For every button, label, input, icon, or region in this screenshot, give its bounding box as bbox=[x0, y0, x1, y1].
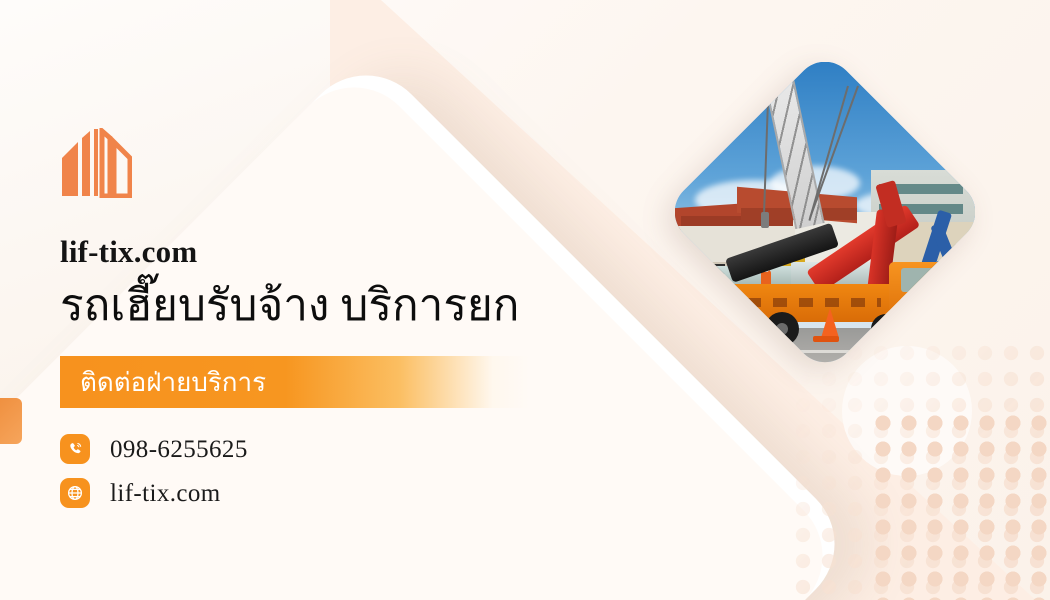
building-bars-logo-icon bbox=[60, 128, 132, 198]
orange-edge-nub bbox=[0, 398, 22, 444]
cta-banner[interactable]: ติดต่อฝ่ายบริการ bbox=[60, 356, 530, 408]
traffic-cone bbox=[821, 308, 839, 338]
page-title: รถเฮี๊ยบรับจ้าง บริการยก bbox=[60, 281, 620, 330]
phone-number: 098-6255625 bbox=[110, 437, 248, 462]
content-column: lif-tix.com รถเฮี๊ยบรับจ้าง บริการยก ติด… bbox=[60, 128, 620, 522]
contact-row-phone[interactable]: 098-6255625 bbox=[60, 434, 620, 464]
website-url: lif-tix.com bbox=[110, 481, 221, 506]
crane-hook bbox=[761, 212, 769, 228]
halftone-dot-pattern-dense bbox=[870, 410, 1050, 600]
traffic-cone-base bbox=[813, 336, 839, 342]
contact-list: 098-6255625 lif-tix.com bbox=[60, 434, 620, 508]
contact-row-website[interactable]: lif-tix.com bbox=[60, 478, 620, 508]
phone-icon bbox=[60, 434, 90, 464]
promo-banner: lif-tix.com รถเฮี๊ยบรับจ้าง บริการยก ติด… bbox=[0, 0, 1050, 600]
globe-icon bbox=[60, 478, 90, 508]
cta-label: ติดต่อฝ่ายบริการ bbox=[60, 370, 266, 396]
brand-name: lif-tix.com bbox=[60, 236, 620, 267]
